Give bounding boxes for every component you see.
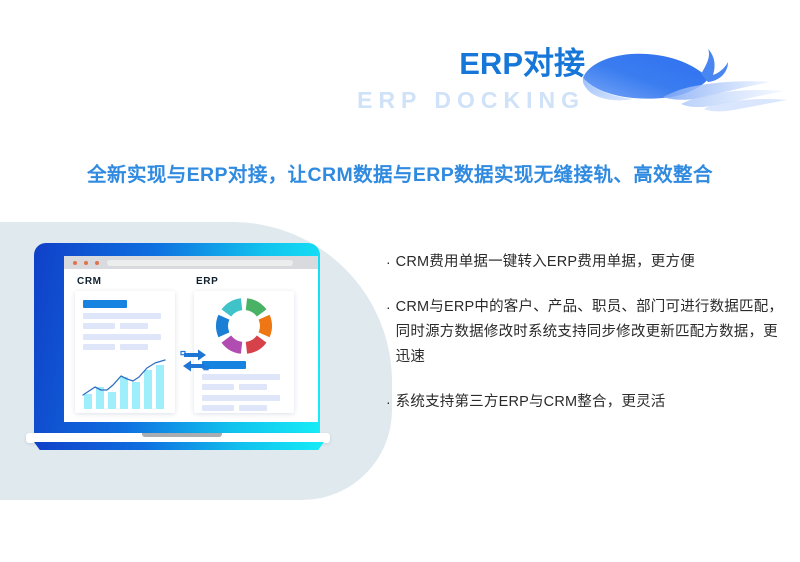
crm-bar-chart	[75, 291, 175, 413]
dot-red	[95, 261, 99, 265]
browser-chrome	[64, 256, 318, 269]
header-title-block: ERP对接	[415, 46, 585, 82]
erp-line-4b	[239, 405, 267, 411]
pane-label-erp: ERP	[196, 276, 218, 287]
erp-line-3	[202, 395, 280, 401]
erp-line-4a	[202, 405, 234, 411]
whale-icon	[575, 42, 790, 122]
exchange-arrows-icon	[180, 347, 209, 375]
laptop-screen: CRM ERP	[64, 256, 318, 422]
page-header: ERP对接 ERP DOCKING	[0, 0, 800, 140]
list-item: · CRM与ERP中的客户、产品、职员、部门可进行数据匹配，同时源方数据修改时系…	[386, 295, 786, 370]
feature-text: 系统支持第三方ERP与CRM整合，更灵活	[396, 390, 666, 415]
bullet-icon: ·	[386, 295, 391, 320]
dot-red	[84, 261, 88, 265]
crm-card	[75, 291, 175, 413]
laptop-lid: CRM ERP	[34, 243, 320, 435]
list-item: · CRM费用单据一键转入ERP费用单据，更方便	[386, 250, 786, 275]
pane-label-crm: CRM	[77, 276, 102, 287]
bullet-icon: ·	[386, 250, 391, 275]
feature-text: CRM费用单据一键转入ERP费用单据，更方便	[396, 250, 695, 275]
erp-card	[194, 291, 294, 413]
page-title: ERP对接	[415, 46, 585, 82]
erp-donut-chart	[194, 293, 294, 359]
erp-line-1	[202, 374, 280, 380]
laptop-hinge-notch	[142, 433, 222, 437]
laptop-base-edge	[34, 442, 324, 450]
bullet-icon: ·	[386, 390, 391, 415]
erp-line-2a	[202, 384, 234, 390]
laptop-illustration: CRM ERP	[20, 243, 336, 453]
section-subtitle: 全新实现与ERP对接，让CRM数据与ERP数据实现无缝接轨、高效整合	[0, 158, 800, 187]
feature-list: · CRM费用单据一键转入ERP费用单据，更方便 · CRM与ERP中的客户、产…	[386, 250, 786, 435]
erp-line-2b	[239, 384, 267, 390]
address-bar[interactable]	[107, 260, 293, 266]
dot-red	[73, 261, 77, 265]
page-subtitle-en: ERP DOCKING	[325, 86, 585, 114]
feature-text: CRM与ERP中的客户、产品、职员、部门可进行数据匹配，同时源方数据修改时系统支…	[396, 295, 786, 370]
list-item: · 系统支持第三方ERP与CRM整合，更灵活	[386, 390, 786, 415]
